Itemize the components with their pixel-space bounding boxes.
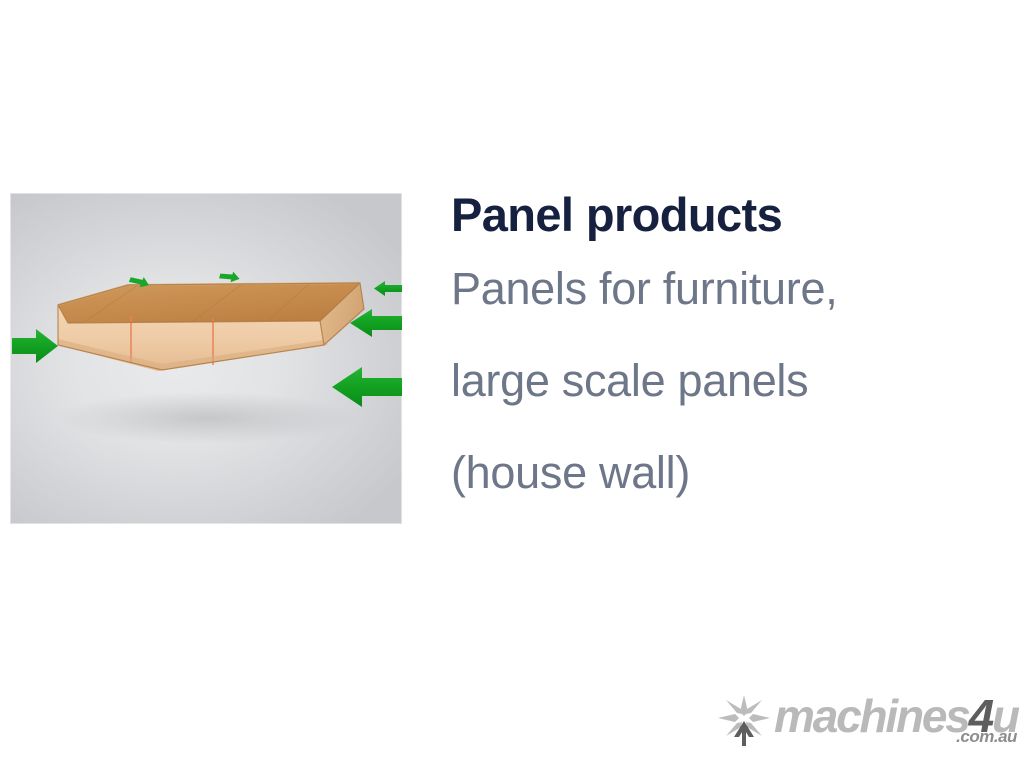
arrow-right-large	[332, 367, 402, 407]
watermark-tld: .com.au	[956, 727, 1017, 747]
description-line-1: Panels for furniture,	[451, 243, 1017, 335]
panel-top-face	[58, 283, 360, 323]
arrow-left-large	[12, 329, 58, 363]
slide-text-block: Panel products Panels for furniture, lar…	[451, 190, 1017, 519]
arrow-right-small	[374, 281, 402, 296]
arrow-back-small-2	[219, 269, 241, 285]
machines4u-watermark: machines4u .com.au	[718, 694, 1016, 756]
watermark-brand-light: machines	[774, 690, 969, 742]
page-title: Panel products	[451, 190, 1017, 239]
description-line-2: large scale panels	[451, 335, 1017, 427]
slide-canvas: Panel products Panels for furniture, lar…	[0, 0, 1024, 768]
watermark-text: machines4u .com.au	[774, 694, 1018, 752]
panel-illustration	[10, 193, 402, 524]
starburst-arrow-icon	[718, 695, 770, 747]
panel-shadow	[56, 392, 356, 444]
description-line-3: (house wall)	[451, 427, 1017, 519]
wood-panel-compression-diagram	[10, 193, 402, 524]
